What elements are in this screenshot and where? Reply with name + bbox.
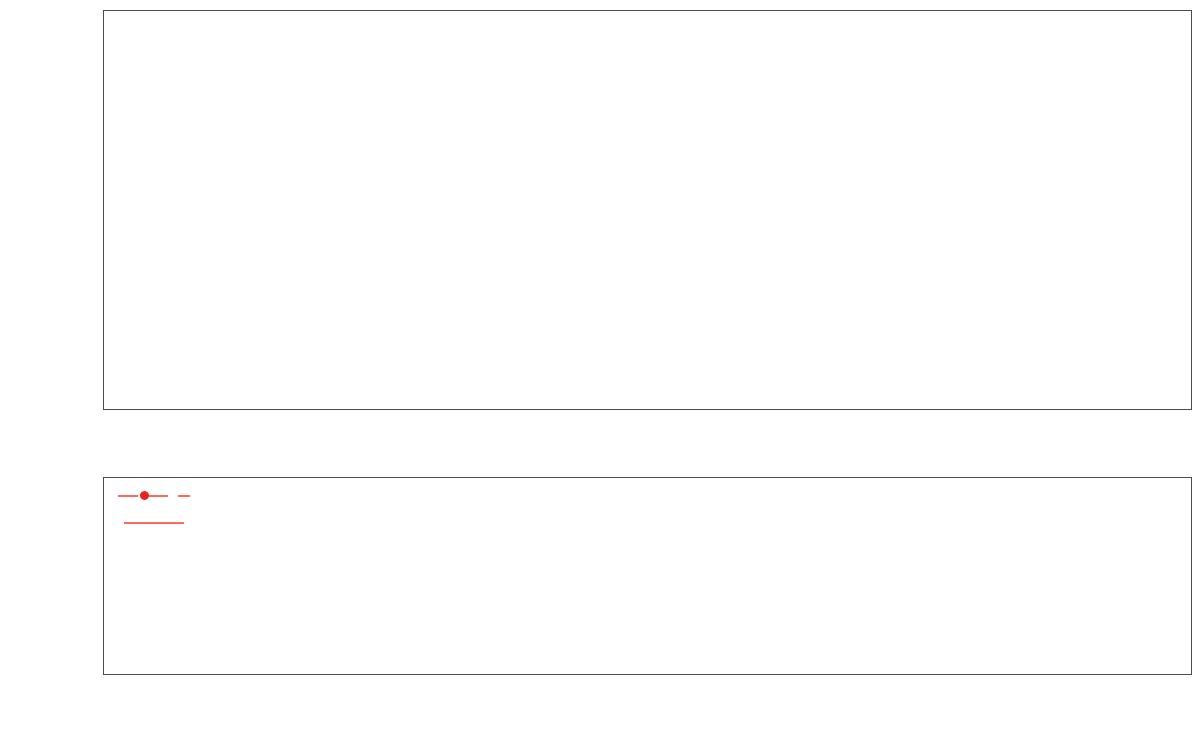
periodogram-legend bbox=[118, 482, 198, 536]
activity-timeseries-panel bbox=[0, 0, 1200, 460]
legend-swatch-period bbox=[118, 486, 190, 506]
legend-swatch-fap bbox=[118, 513, 190, 533]
legend-peak-dot bbox=[140, 491, 149, 500]
legend-dashed-line bbox=[118, 495, 190, 498]
periodogram-overlays bbox=[104, 478, 1191, 674]
periodogram-frame bbox=[103, 477, 1192, 675]
legend-row-fap bbox=[118, 509, 198, 536]
figure-root bbox=[0, 0, 1200, 745]
legend-row-period bbox=[118, 482, 198, 509]
legend-solid-line bbox=[124, 522, 184, 525]
periodogram-panel bbox=[0, 460, 1200, 745]
top-panel-frame bbox=[103, 10, 1192, 410]
